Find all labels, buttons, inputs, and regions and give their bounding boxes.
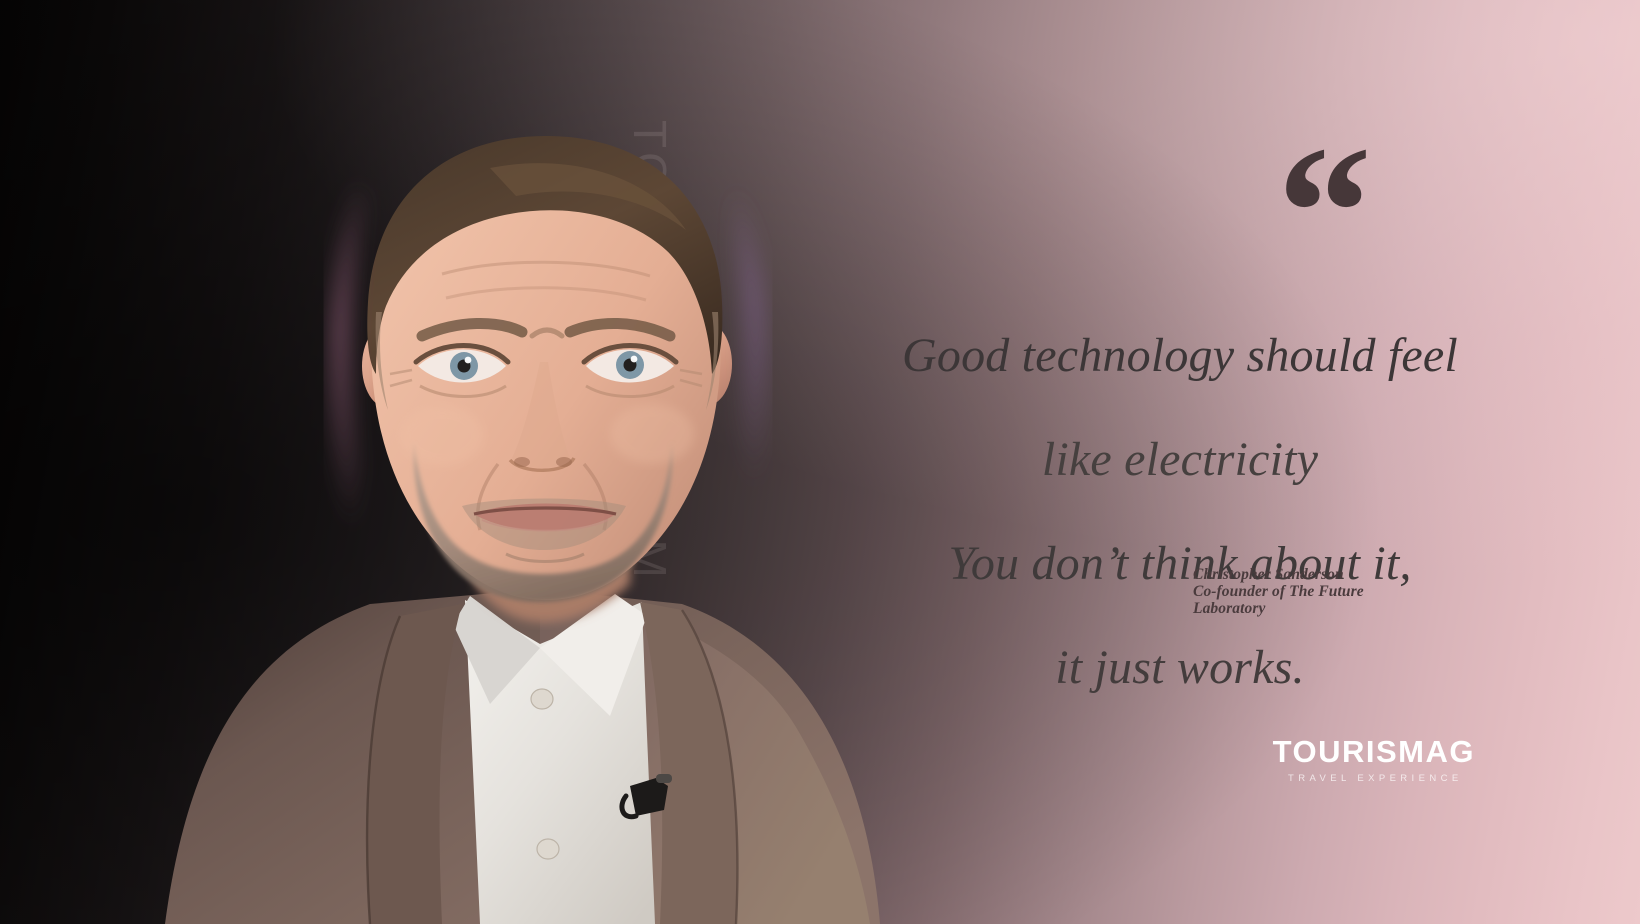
attribution: Christopher Sanderson Co-founder of The … [1193, 566, 1423, 617]
quote-line-4: it just works. [870, 642, 1490, 694]
subject-portrait [70, 44, 970, 924]
quote-panel: “ Good technology should feel like elect… [860, 0, 1560, 924]
attribution-name: Christopher Sanderson [1193, 566, 1344, 583]
brand-name: TOURISMAG [1273, 735, 1475, 769]
subject-head [367, 136, 722, 602]
quote-text: Good technology should feel like electri… [870, 278, 1490, 746]
subject-torso [165, 549, 880, 924]
quote-line-1: Good technology should feel [870, 330, 1490, 382]
attribution-role-line-1: Co-founder of The Future [1193, 583, 1423, 600]
brand-tagline: TRAVEL EXPERIENCE [1273, 773, 1475, 784]
attribution-role-line-2: Laboratory [1193, 600, 1423, 617]
quote-line-2: like electricity [870, 434, 1490, 486]
brand-logo: TOURISMAG TRAVEL EXPERIENCE [1273, 735, 1475, 784]
quote-card: TOURISMAG.COM [0, 0, 1640, 924]
